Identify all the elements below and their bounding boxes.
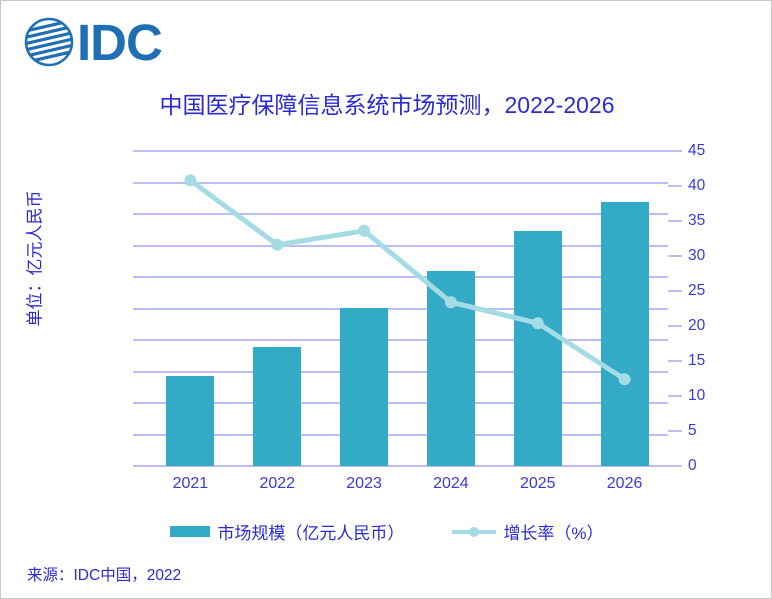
x-axis-tick-label: 2026	[607, 475, 643, 493]
left-axis-tick	[133, 245, 147, 247]
right-axis-tick	[668, 220, 682, 222]
left-axis-tick	[133, 339, 147, 341]
legend-item-market-size: 市场规模（亿元人民币）	[170, 519, 404, 544]
growth-rate-line	[190, 180, 624, 379]
line-marker	[358, 225, 370, 237]
legend-item-growth-rate: 增长率（%）	[452, 519, 603, 544]
right-axis-tick-label: 0	[688, 457, 728, 475]
left-axis-tick	[133, 465, 147, 467]
right-axis-tick	[668, 465, 682, 467]
legend-label-growth-rate: 增长率（%）	[503, 519, 603, 544]
line-marker	[619, 373, 631, 385]
globe-icon	[23, 16, 75, 68]
source-note: 来源：IDC中国，2022	[27, 563, 181, 585]
x-axis-tick-label: 2025	[520, 475, 556, 493]
left-axis-tick	[133, 276, 147, 278]
right-axis-tick	[668, 360, 682, 362]
legend-label-market-size: 市场规模（亿元人民币）	[217, 519, 404, 544]
line-swatch-icon	[452, 525, 496, 539]
x-axis-tick-label: 2023	[346, 475, 382, 493]
x-axis-tick-label: 2022	[259, 475, 295, 493]
right-axis-tick-label: 15	[688, 352, 728, 370]
right-axis-tick-label: 35	[688, 212, 728, 230]
right-axis-tick	[668, 325, 682, 327]
x-axis-tick-label: 2024	[433, 475, 469, 493]
left-axis-tick	[133, 371, 147, 373]
left-axis-tick	[133, 402, 147, 404]
bar-swatch-icon	[170, 526, 210, 537]
growth-rate-line-series	[147, 151, 668, 466]
left-axis-tick	[133, 213, 147, 215]
right-axis-tick	[668, 185, 682, 187]
right-axis-tick-label: 5	[688, 422, 728, 440]
right-axis-tick-label: 10	[688, 387, 728, 405]
right-axis-tick-label: 25	[688, 282, 728, 300]
line-marker	[445, 296, 457, 308]
right-axis-tick-label: 40	[688, 177, 728, 195]
right-axis-tick-label: 20	[688, 317, 728, 335]
right-axis-tick	[668, 290, 682, 292]
right-axis-tick	[668, 430, 682, 432]
y-axis-caption: 单位：亿元人民币	[21, 169, 46, 349]
left-axis-tick	[133, 308, 147, 310]
left-axis-tick	[133, 150, 147, 152]
right-axis-tick-label: 30	[688, 247, 728, 265]
left-axis-tick	[133, 434, 147, 436]
left-axis-tick	[133, 182, 147, 184]
idc-logo: IDC	[23, 15, 162, 69]
idc-wordmark: IDC	[77, 17, 162, 68]
line-marker	[184, 174, 196, 186]
right-axis-tick	[668, 395, 682, 397]
line-marker	[532, 317, 544, 329]
line-marker	[271, 239, 283, 251]
right-axis-tick	[668, 255, 682, 257]
x-axis-tick-label: 2021	[173, 475, 209, 493]
chart-page: IDC 中国医疗保障信息系统市场预测，2022-2026 单位：亿元人民币 0.…	[0, 0, 772, 599]
right-axis-tick	[668, 150, 682, 152]
chart-legend: 市场规模（亿元人民币） 增长率（%）	[1, 519, 772, 544]
plot-area: 0.010.020.030.040.050.060.070.080.090.01…	[147, 151, 668, 466]
chart-title: 中国医疗保障信息系统市场预测，2022-2026	[1, 86, 772, 120]
right-axis-tick-label: 45	[688, 142, 728, 160]
